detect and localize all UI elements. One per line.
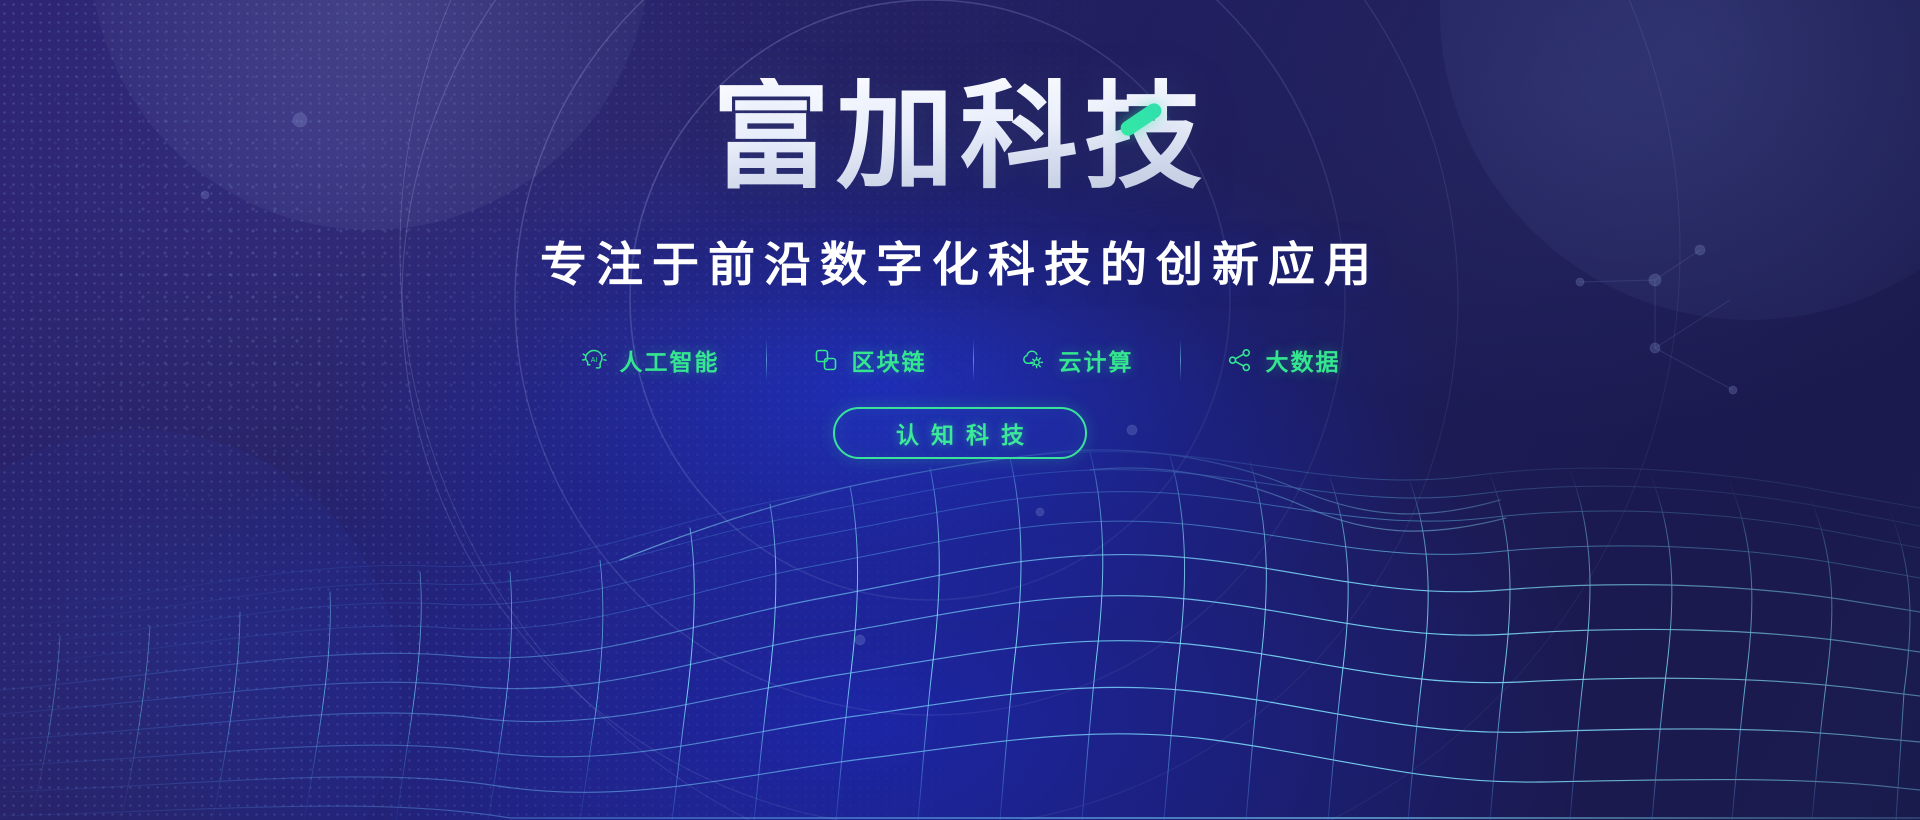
- svg-text:AI: AI: [590, 357, 597, 364]
- feature-tag-list: AI 人工智能 区块链: [534, 343, 1387, 377]
- hero-subtitle: 专注于前沿数字化科技的创新应用: [540, 226, 1380, 295]
- share-nodes-icon: [1226, 346, 1254, 374]
- feature-tag-label: 大数据: [1266, 343, 1341, 377]
- hero-content: 富加科技 专注于前沿数字化科技的创新应用 AI: [0, 0, 1920, 820]
- ai-brain-icon: AI: [580, 346, 608, 374]
- feature-tag-label: 区块链: [852, 343, 927, 377]
- feature-tag-ai[interactable]: AI 人工智能: [534, 343, 766, 377]
- feature-tag-label: 云计算: [1059, 343, 1134, 377]
- cloud-gear-icon: [1019, 346, 1047, 374]
- brand-logo: 富加科技: [712, 78, 1208, 196]
- hero-banner: 富加科技 专注于前沿数字化科技的创新应用 AI: [0, 0, 1920, 820]
- brand-logo-text: 富加科技: [712, 71, 1208, 203]
- cognitive-tech-button[interactable]: 认知科技: [833, 407, 1087, 459]
- blockchain-blocks-icon: [812, 346, 840, 374]
- feature-tag-cloud[interactable]: 云计算: [973, 343, 1180, 377]
- feature-tag-bigdata[interactable]: 大数据: [1180, 343, 1387, 377]
- feature-tag-label: 人工智能: [620, 343, 720, 377]
- feature-tag-blockchain[interactable]: 区块链: [766, 343, 973, 377]
